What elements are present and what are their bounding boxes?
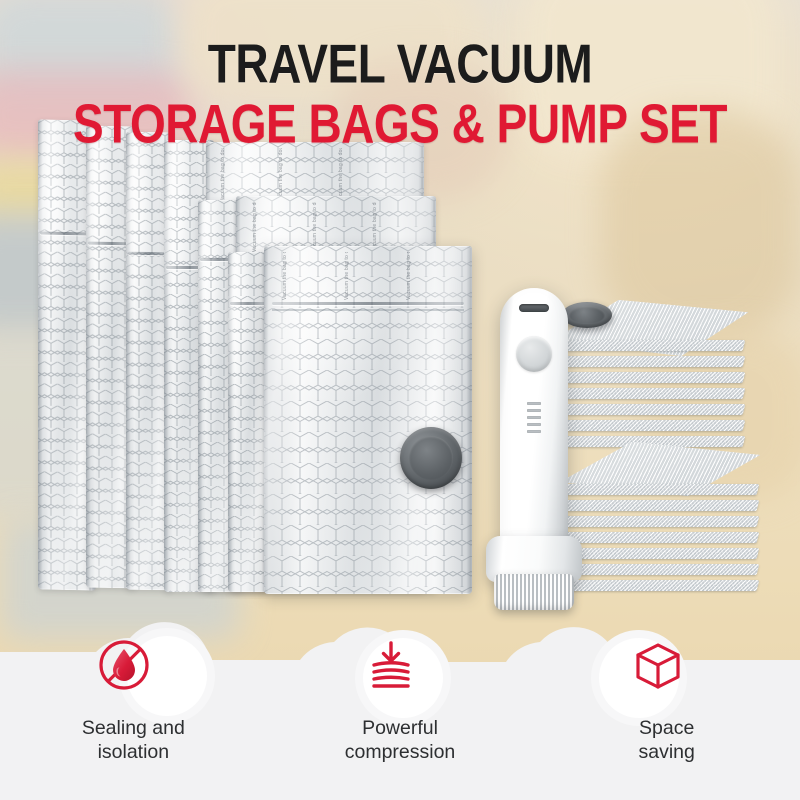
bag-print-text: Vacuum the bag to double the space	[312, 202, 318, 252]
bag-print-text: Vacuum the bag to double the space	[278, 148, 284, 202]
product-banner: TRAVEL VACUUM STORAGE BAGS & PUMP SET	[0, 0, 800, 800]
vacuum-pump	[486, 288, 586, 618]
bag-print-text: Vacuum the bag to double the space	[282, 252, 288, 300]
feature-label-line1: Powerful	[362, 717, 438, 739]
feature-label-line2: saving	[638, 741, 694, 763]
storage-bag	[228, 252, 268, 592]
usb-c-port-icon	[519, 304, 549, 312]
power-button[interactable]	[516, 336, 552, 372]
title-line-1: TRAVEL VACUUM	[0, 34, 800, 93]
feature-item: Space saving	[533, 600, 800, 800]
feature-panel: Sealing and isolation	[0, 600, 800, 800]
feature-label-line1: Sealing and	[82, 717, 185, 739]
bag-print-text: Vacuum the bag to double the space	[338, 148, 344, 202]
bag-print-text: Vacuum the bag to double the space	[220, 148, 226, 202]
bag-print-text: Vacuum the bag to double the space	[344, 252, 350, 300]
feature-list: Sealing and isolation	[0, 600, 800, 800]
feature-label: Sealing and isolation	[0, 716, 267, 764]
air-valve	[400, 427, 462, 489]
led-indicator	[527, 402, 541, 437]
bag-print-text: Vacuum the bag to double the space	[372, 202, 378, 252]
feature-label-line2: isolation	[98, 741, 170, 763]
feature-item: Sealing and isolation	[0, 600, 267, 800]
feature-label-line2: compression	[345, 741, 456, 763]
storage-bag-front: Vacuum the bag to double the space Vacuu…	[264, 246, 472, 594]
feature-label: Powerful compression	[267, 716, 534, 764]
compression-arrow-icon	[362, 638, 438, 714]
feature-label: Space saving	[533, 716, 800, 764]
bag-print-text: Vacuum the bag to double the space	[252, 202, 258, 252]
title-line-2: STORAGE BAGS & PUMP SET	[0, 94, 800, 153]
title-block: TRAVEL VACUUM STORAGE BAGS & PUMP SET	[0, 34, 800, 144]
cube-box-icon	[629, 638, 705, 714]
feature-label-line1: Space	[639, 717, 694, 739]
no-water-drop-icon	[95, 636, 171, 712]
bag-print-text: Vacuum the bag to double the space	[406, 252, 412, 300]
feature-item: Powerful compression	[267, 600, 534, 800]
